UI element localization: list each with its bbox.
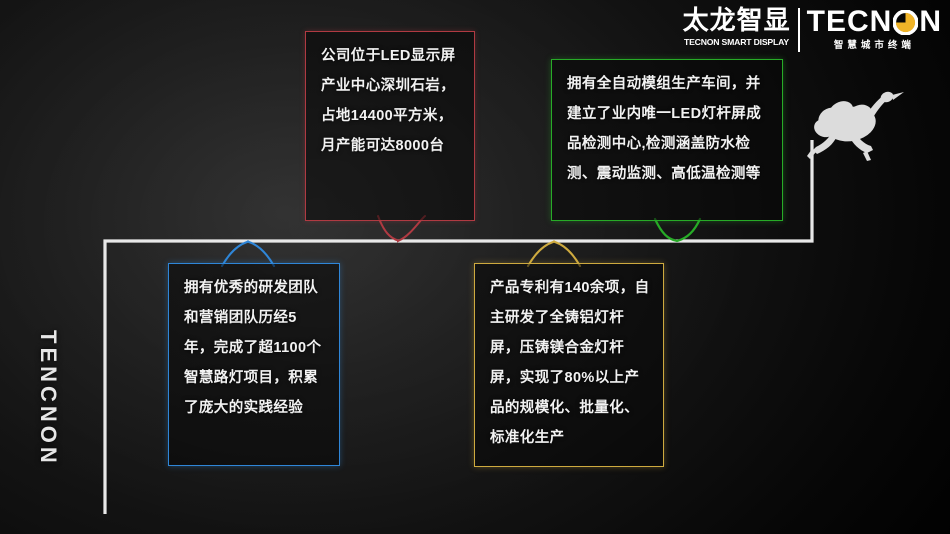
logo-o-mark-icon	[893, 10, 918, 35]
green-box-tail	[655, 219, 700, 241]
logo-brand-wordmark: TECN N	[807, 8, 942, 36]
logo-chinese-block: 太龙智显 TECNON SMART DISPLAY	[683, 8, 791, 48]
logo-brand-suffix: N	[919, 8, 942, 36]
slide-canvas: 公司位于LED显示屏产业中心深圳石岩，占地14400平方米，月产能可达8000台…	[0, 0, 950, 534]
logo-chinese-subtitle: 智慧城市终端	[834, 39, 915, 52]
logo-english-tagline: TECNON SMART DISPLAY	[684, 36, 789, 48]
info-box-patents-manufacturing[interactable]: 产品专利有140余项，自主研发了全铸铝灯杆屏，压铸镁合金灯杆屏，实现了80%以上…	[474, 263, 664, 467]
info-box-rd-marketing-team-text: 拥有优秀的研发团队和营销团队历经5年，完成了超1100个智慧路灯项目，积累了庞大…	[184, 273, 326, 423]
info-box-company-location[interactable]: 公司位于LED显示屏产业中心深圳石岩，占地14400平方米，月产能可达8000台	[305, 31, 475, 221]
info-box-patents-manufacturing-text: 产品专利有140余项，自主研发了全铸铝灯杆屏，压铸镁合金灯杆屏，实现了80%以上…	[490, 273, 650, 453]
logo-brand-block: TECN N 智慧城市终端	[807, 8, 942, 52]
info-box-production-workshop[interactable]: 拥有全自动模组生产车间，并建立了业内唯一LED灯杆屏成品检测中心,检测涵盖防水检…	[551, 59, 783, 221]
logo-chinese-name: 太龙智显	[683, 8, 791, 35]
info-box-production-workshop-text: 拥有全自动模组生产车间，并建立了业内唯一LED灯杆屏成品检测中心,检测涵盖防水检…	[567, 69, 769, 189]
info-box-company-location-text: 公司位于LED显示屏产业中心深圳石岩，占地14400平方米，月产能可达8000台	[321, 41, 461, 161]
vertical-brand-text: TENCNON	[35, 330, 61, 467]
company-logo: 太龙智显 TECNON SMART DISPLAY TECN N 智慧城市终端	[683, 8, 942, 52]
logo-brand-prefix: TECN	[807, 8, 893, 36]
info-box-rd-marketing-team[interactable]: 拥有优秀的研发团队和营销团队历经5年，完成了超1100个智慧路灯项目，积累了庞大…	[168, 263, 340, 466]
logo-divider	[798, 8, 800, 52]
ostrich-silhouette	[805, 88, 925, 168]
